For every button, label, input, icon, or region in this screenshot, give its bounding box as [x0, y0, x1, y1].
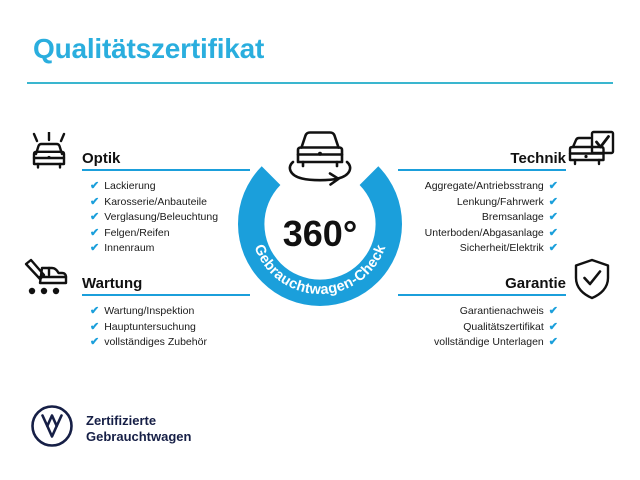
page-title: Qualitätszertifikat	[33, 33, 264, 65]
car-shine-icon	[26, 132, 72, 177]
list-item: ✔Hauptuntersuchung	[90, 320, 250, 336]
check-icon: ✔	[90, 322, 99, 333]
list-item-label: Qualitätszertifikat	[463, 320, 544, 336]
car-rotate-360-icon	[290, 133, 350, 185]
check-icon: ✔	[549, 337, 558, 348]
section-wartung: Wartung ✔Wartung/Inspektion ✔Hauptunters…	[82, 268, 250, 351]
list-item-label: Verglasung/Beleuchtung	[104, 210, 218, 226]
section-wartung-header: Wartung	[82, 268, 250, 296]
section-garantie-title: Garantie	[505, 275, 566, 292]
volkswagen-logo	[30, 404, 74, 453]
section-optik: Optik ✔Lackierung ✔Karosserie/Anbauteile…	[82, 143, 250, 257]
badge-360-gebrauchtwagen-check: 360° Gebrauchtwagen-Check	[228, 120, 412, 315]
list-item-label: Innenraum	[104, 241, 154, 257]
list-item-label: Garantienachweis	[460, 304, 544, 320]
section-optik-title: Optik	[82, 150, 120, 167]
check-icon: ✔	[90, 337, 99, 348]
section-technik-list: Aggregate/Antriebsstrang✔ Lenkung/Fahrwe…	[398, 179, 558, 257]
section-technik-title: Technik	[510, 150, 566, 167]
check-icon: ✔	[549, 243, 558, 254]
list-item: ✔Wartung/Inspektion	[90, 304, 250, 320]
section-technik-header: Technik	[398, 143, 566, 171]
list-item-label: Aggregate/Antriebsstrang	[425, 179, 544, 195]
list-item: ✔Felgen/Reifen	[90, 226, 250, 242]
list-item: ✔vollständiges Zubehör	[90, 335, 250, 351]
check-icon: ✔	[90, 197, 99, 208]
check-icon: ✔	[549, 228, 558, 239]
list-item: Bremsanlage✔	[398, 210, 558, 226]
list-item-label: Wartung/Inspektion	[104, 304, 194, 320]
car-wrench-service-icon	[22, 258, 70, 303]
section-wartung-list: ✔Wartung/Inspektion ✔Hauptuntersuchung ✔…	[90, 304, 250, 351]
shield-check-icon	[572, 258, 612, 305]
list-item-label: Lenkung/Fahrwerk	[457, 195, 544, 211]
check-icon: ✔	[90, 228, 99, 239]
check-icon: ✔	[549, 181, 558, 192]
title-divider	[27, 82, 613, 84]
list-item-label: Sicherheit/Elektrik	[460, 241, 544, 257]
footer-branding: Zertifizierte Gebrauchtwagen	[30, 404, 191, 453]
list-item: Unterboden/Abgasanlage✔	[398, 226, 558, 242]
section-garantie-header: Garantie	[398, 268, 566, 296]
section-garantie: Garantie Garantienachweis✔ Qualitätszert…	[398, 268, 566, 351]
list-item-label: Unterboden/Abgasanlage	[425, 226, 544, 242]
list-item: Aggregate/Antriebsstrang✔	[398, 179, 558, 195]
section-garantie-list: Garantienachweis✔ Qualitätszertifikat✔ v…	[398, 304, 558, 351]
section-wartung-title: Wartung	[82, 275, 142, 292]
list-item: ✔Karosserie/Anbauteile	[90, 195, 250, 211]
list-item: ✔Lackierung	[90, 179, 250, 195]
check-icon: ✔	[90, 243, 99, 254]
check-icon: ✔	[549, 212, 558, 223]
car-checkbox-icon	[566, 130, 616, 177]
certificate-page: Qualitätszertifikat	[0, 0, 640, 480]
section-garantie-divider	[398, 294, 566, 296]
section-wartung-divider	[82, 294, 250, 296]
list-item-label: Hauptuntersuchung	[104, 320, 196, 336]
list-item-label: vollständiges Zubehör	[104, 335, 207, 351]
list-item-label: Lackierung	[104, 179, 155, 195]
check-icon: ✔	[90, 212, 99, 223]
list-item-label: Felgen/Reifen	[104, 226, 169, 242]
list-item: ✔Innenraum	[90, 241, 250, 257]
badge-center-label: 360°	[283, 213, 357, 254]
list-item: Qualitätszertifikat✔	[398, 320, 558, 336]
list-item: vollständige Unterlagen✔	[398, 335, 558, 351]
section-optik-header: Optik	[82, 143, 250, 171]
check-icon: ✔	[90, 306, 99, 317]
list-item: Sicherheit/Elektrik✔	[398, 241, 558, 257]
section-optik-divider	[82, 169, 250, 171]
section-optik-list: ✔Lackierung ✔Karosserie/Anbauteile ✔Verg…	[90, 179, 250, 257]
check-icon: ✔	[549, 322, 558, 333]
list-item-label: Karosserie/Anbauteile	[104, 195, 207, 211]
list-item: Garantienachweis✔	[398, 304, 558, 320]
section-technik: Technik Aggregate/Antriebsstrang✔ Lenkun…	[398, 143, 566, 257]
list-item: Lenkung/Fahrwerk✔	[398, 195, 558, 211]
check-icon: ✔	[549, 306, 558, 317]
list-item-label: vollständige Unterlagen	[434, 335, 544, 351]
section-technik-divider	[398, 169, 566, 171]
check-icon: ✔	[549, 197, 558, 208]
list-item: ✔Verglasung/Beleuchtung	[90, 210, 250, 226]
check-icon: ✔	[90, 181, 99, 192]
list-item-label: Bremsanlage	[482, 210, 544, 226]
footer-text: Zertifizierte Gebrauchtwagen	[86, 413, 191, 445]
